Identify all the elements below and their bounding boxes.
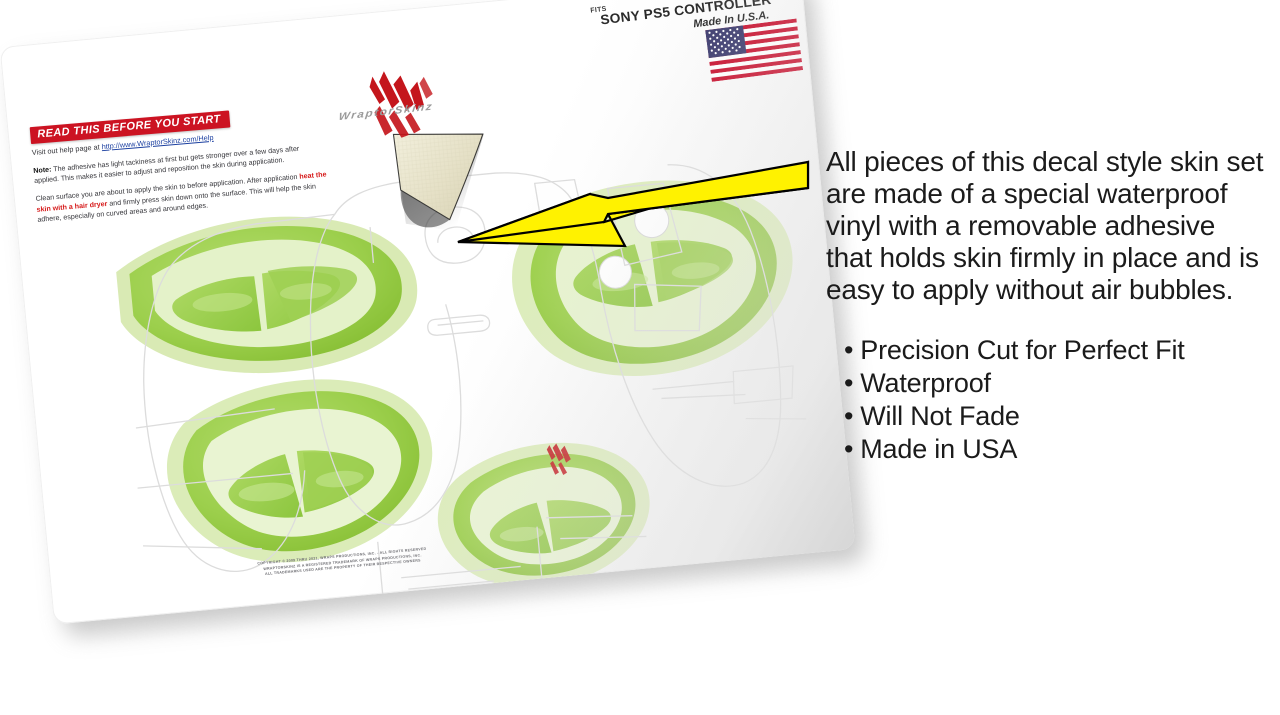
screenshot-stage: WraptorSkinz READ THIS BEFORE YOU START …	[0, 0, 1280, 715]
list-item: •Precision Cut for Perfect Fit	[844, 334, 1266, 367]
skin-sheet: WraptorSkinz READ THIS BEFORE YOU START …	[0, 0, 856, 625]
die-cut-edge-pieces	[731, 365, 806, 425]
wraptorskinz-watermark-icon	[537, 440, 582, 478]
bullet-glyph: •	[844, 401, 853, 431]
bullet-glyph: •	[844, 368, 853, 398]
list-item: •Made in USA	[844, 433, 1266, 466]
feature-bullet-list: •Precision Cut for Perfect Fit •Waterpro…	[844, 334, 1266, 466]
peeled-corner	[387, 118, 519, 259]
note-label: Note:	[33, 165, 52, 174]
bullet-label: Waterproof	[860, 368, 991, 398]
lime-art-left-middle	[160, 369, 442, 574]
list-item: •Waterproof	[844, 367, 1266, 400]
lime-art-top-left	[112, 204, 424, 387]
callout-panel: All pieces of this decal style skin set …	[826, 146, 1266, 466]
bullet-label: Precision Cut for Perfect Fit	[860, 335, 1184, 365]
help-prefix: Visit out help page at	[31, 142, 102, 157]
wraptorskinz-logo: WraptorSkinz	[328, 61, 470, 146]
bullet-glyph: •	[844, 335, 853, 365]
bullet-glyph: •	[844, 434, 853, 464]
bullet-label: Will Not Fade	[860, 401, 1019, 431]
sheet-surface: WraptorSkinz READ THIS BEFORE YOU START …	[0, 0, 856, 625]
bullet-label: Made in USA	[860, 434, 1017, 464]
lime-art-right	[504, 168, 802, 387]
callout-blurb: All pieces of this decal style skin set …	[826, 146, 1266, 306]
list-item: •Will Not Fade	[844, 400, 1266, 433]
